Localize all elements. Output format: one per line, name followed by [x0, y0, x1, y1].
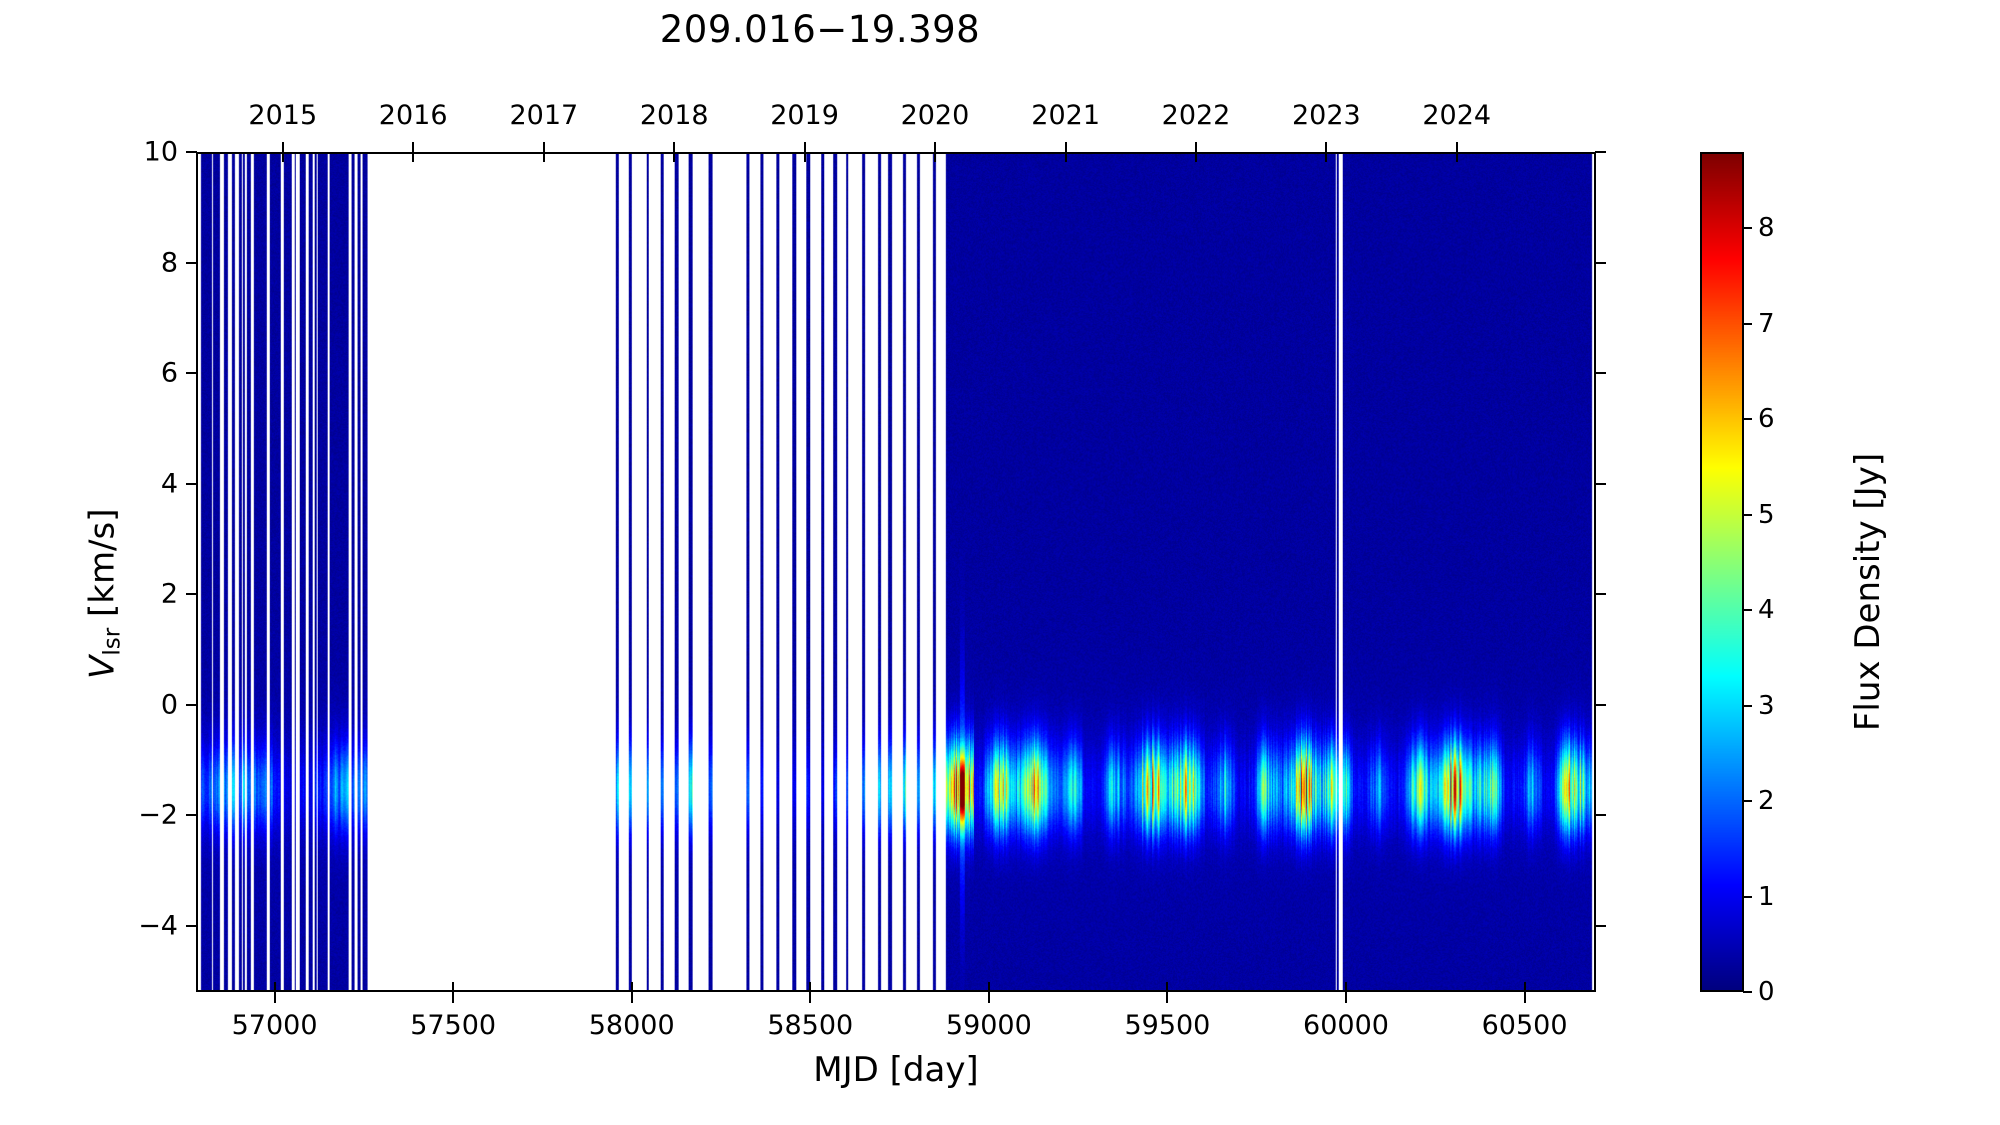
year-tick-label: 2017 — [509, 100, 578, 131]
x-tick-label: 57000 — [232, 1010, 318, 1041]
y-tick-left — [186, 814, 197, 816]
dynamic-spectrum-image — [198, 154, 1594, 990]
y-tick-right — [1595, 704, 1606, 706]
year-tick-inner — [1456, 153, 1458, 162]
y-tick-left — [186, 925, 197, 927]
year-tick-label: 2020 — [901, 100, 970, 131]
colorbar-tick — [1743, 514, 1752, 516]
y-axis-symbol: V — [82, 656, 122, 679]
y-tick-right — [1595, 593, 1606, 595]
x-tick-bottom-inner — [1166, 982, 1168, 991]
y-axis-subscript: lsr — [100, 628, 126, 656]
x-tick-label: 59500 — [1124, 1010, 1210, 1041]
x-tick-bottom-inner — [274, 982, 276, 991]
x-tick-bottom-inner — [1524, 982, 1526, 991]
y-tick-right — [1595, 814, 1606, 816]
colorbar-tick-label: 4 — [1758, 595, 1775, 625]
x-axis-title: MJD [day] — [196, 1050, 1596, 1090]
x-tick-label: 58000 — [589, 1010, 675, 1041]
x-tick-bottom-inner — [809, 982, 811, 991]
colorbar-tick — [1743, 418, 1752, 420]
year-tick-inner — [673, 153, 675, 162]
y-tick-left — [186, 372, 197, 374]
year-tick-inner — [543, 153, 545, 162]
year-tick-label: 2022 — [1162, 100, 1231, 131]
year-tick — [1195, 142, 1197, 153]
y-tick-right — [1595, 262, 1606, 264]
colorbar-tick-label: 1 — [1758, 882, 1775, 912]
y-axis-unit: [km/s] — [82, 509, 122, 618]
x-tick-bottom — [452, 992, 454, 1003]
colorbar-gradient — [1702, 154, 1742, 990]
year-tick — [1456, 142, 1458, 153]
year-tick — [804, 142, 806, 153]
colorbar-tick-label: 6 — [1758, 404, 1775, 434]
y-tick-left — [186, 483, 197, 485]
y-tick-label: 10 — [66, 137, 178, 168]
y-tick-left — [186, 262, 197, 264]
x-tick-label: 60000 — [1303, 1010, 1389, 1041]
x-tick-label: 60500 — [1482, 1010, 1568, 1041]
year-tick-inner — [282, 153, 284, 162]
x-tick-bottom — [631, 992, 633, 1003]
x-tick-bottom — [1524, 992, 1526, 1003]
x-tick-bottom — [809, 992, 811, 1003]
year-tick — [934, 142, 936, 153]
year-tick-inner — [412, 153, 414, 162]
year-tick-inner — [1065, 153, 1067, 162]
y-tick-right — [1595, 483, 1606, 485]
year-tick — [412, 142, 414, 153]
x-tick-label: 58500 — [767, 1010, 853, 1041]
colorbar-tick — [1743, 705, 1752, 707]
y-tick-right — [1595, 372, 1606, 374]
year-tick-inner — [1325, 153, 1327, 162]
page-title: 209.016−19.398 — [0, 8, 1640, 51]
year-tick-inner — [804, 153, 806, 162]
year-tick — [673, 142, 675, 153]
y-axis-title: Vlsr [km/s] — [82, 174, 125, 1014]
year-tick — [1065, 142, 1067, 153]
colorbar-tick-label: 3 — [1758, 691, 1775, 721]
x-tick-bottom — [988, 992, 990, 1003]
x-tick-bottom-inner — [452, 982, 454, 991]
year-tick-inner — [1195, 153, 1197, 162]
year-tick — [1325, 142, 1327, 153]
dynamic-spectrum-axes — [196, 152, 1596, 992]
x-tick-bottom-inner — [988, 982, 990, 991]
x-tick-label: 57500 — [410, 1010, 496, 1041]
colorbar-tick — [1743, 991, 1752, 993]
colorbar — [1700, 152, 1744, 992]
colorbar-tick — [1743, 227, 1752, 229]
x-tick-label: 59000 — [946, 1010, 1032, 1041]
year-tick-label: 2015 — [248, 100, 317, 131]
colorbar-tick-label: 5 — [1758, 500, 1775, 530]
year-tick-label: 2016 — [379, 100, 448, 131]
year-tick-label: 2023 — [1292, 100, 1361, 131]
year-tick — [282, 142, 284, 153]
x-tick-bottom — [1166, 992, 1168, 1003]
year-tick-label: 2021 — [1031, 100, 1100, 131]
y-tick-left — [186, 593, 197, 595]
x-tick-bottom — [274, 992, 276, 1003]
y-tick-left — [186, 704, 197, 706]
y-tick-right — [1595, 925, 1606, 927]
colorbar-tick-label: 8 — [1758, 213, 1775, 243]
colorbar-tick-label: 0 — [1758, 977, 1775, 1007]
figure-canvas: 209.016−19.398 5700057500580005850059000… — [0, 0, 2000, 1125]
x-tick-bottom — [1345, 992, 1347, 1003]
colorbar-tick-label: 7 — [1758, 309, 1775, 339]
colorbar-tick — [1743, 323, 1752, 325]
year-tick-label: 2018 — [640, 100, 709, 131]
colorbar-axis-title: Flux Density [Jy] — [1848, 172, 1888, 1012]
colorbar-tick-label: 2 — [1758, 786, 1775, 816]
year-tick — [543, 142, 545, 153]
y-tick-left — [186, 151, 197, 153]
year-tick-label: 2019 — [770, 100, 839, 131]
year-tick-label: 2024 — [1422, 100, 1491, 131]
y-tick-right — [1595, 151, 1606, 153]
colorbar-tick — [1743, 800, 1752, 802]
colorbar-tick — [1743, 896, 1752, 898]
x-tick-bottom-inner — [1345, 982, 1347, 991]
year-tick-inner — [934, 153, 936, 162]
colorbar-tick — [1743, 609, 1752, 611]
x-tick-bottom-inner — [631, 982, 633, 991]
